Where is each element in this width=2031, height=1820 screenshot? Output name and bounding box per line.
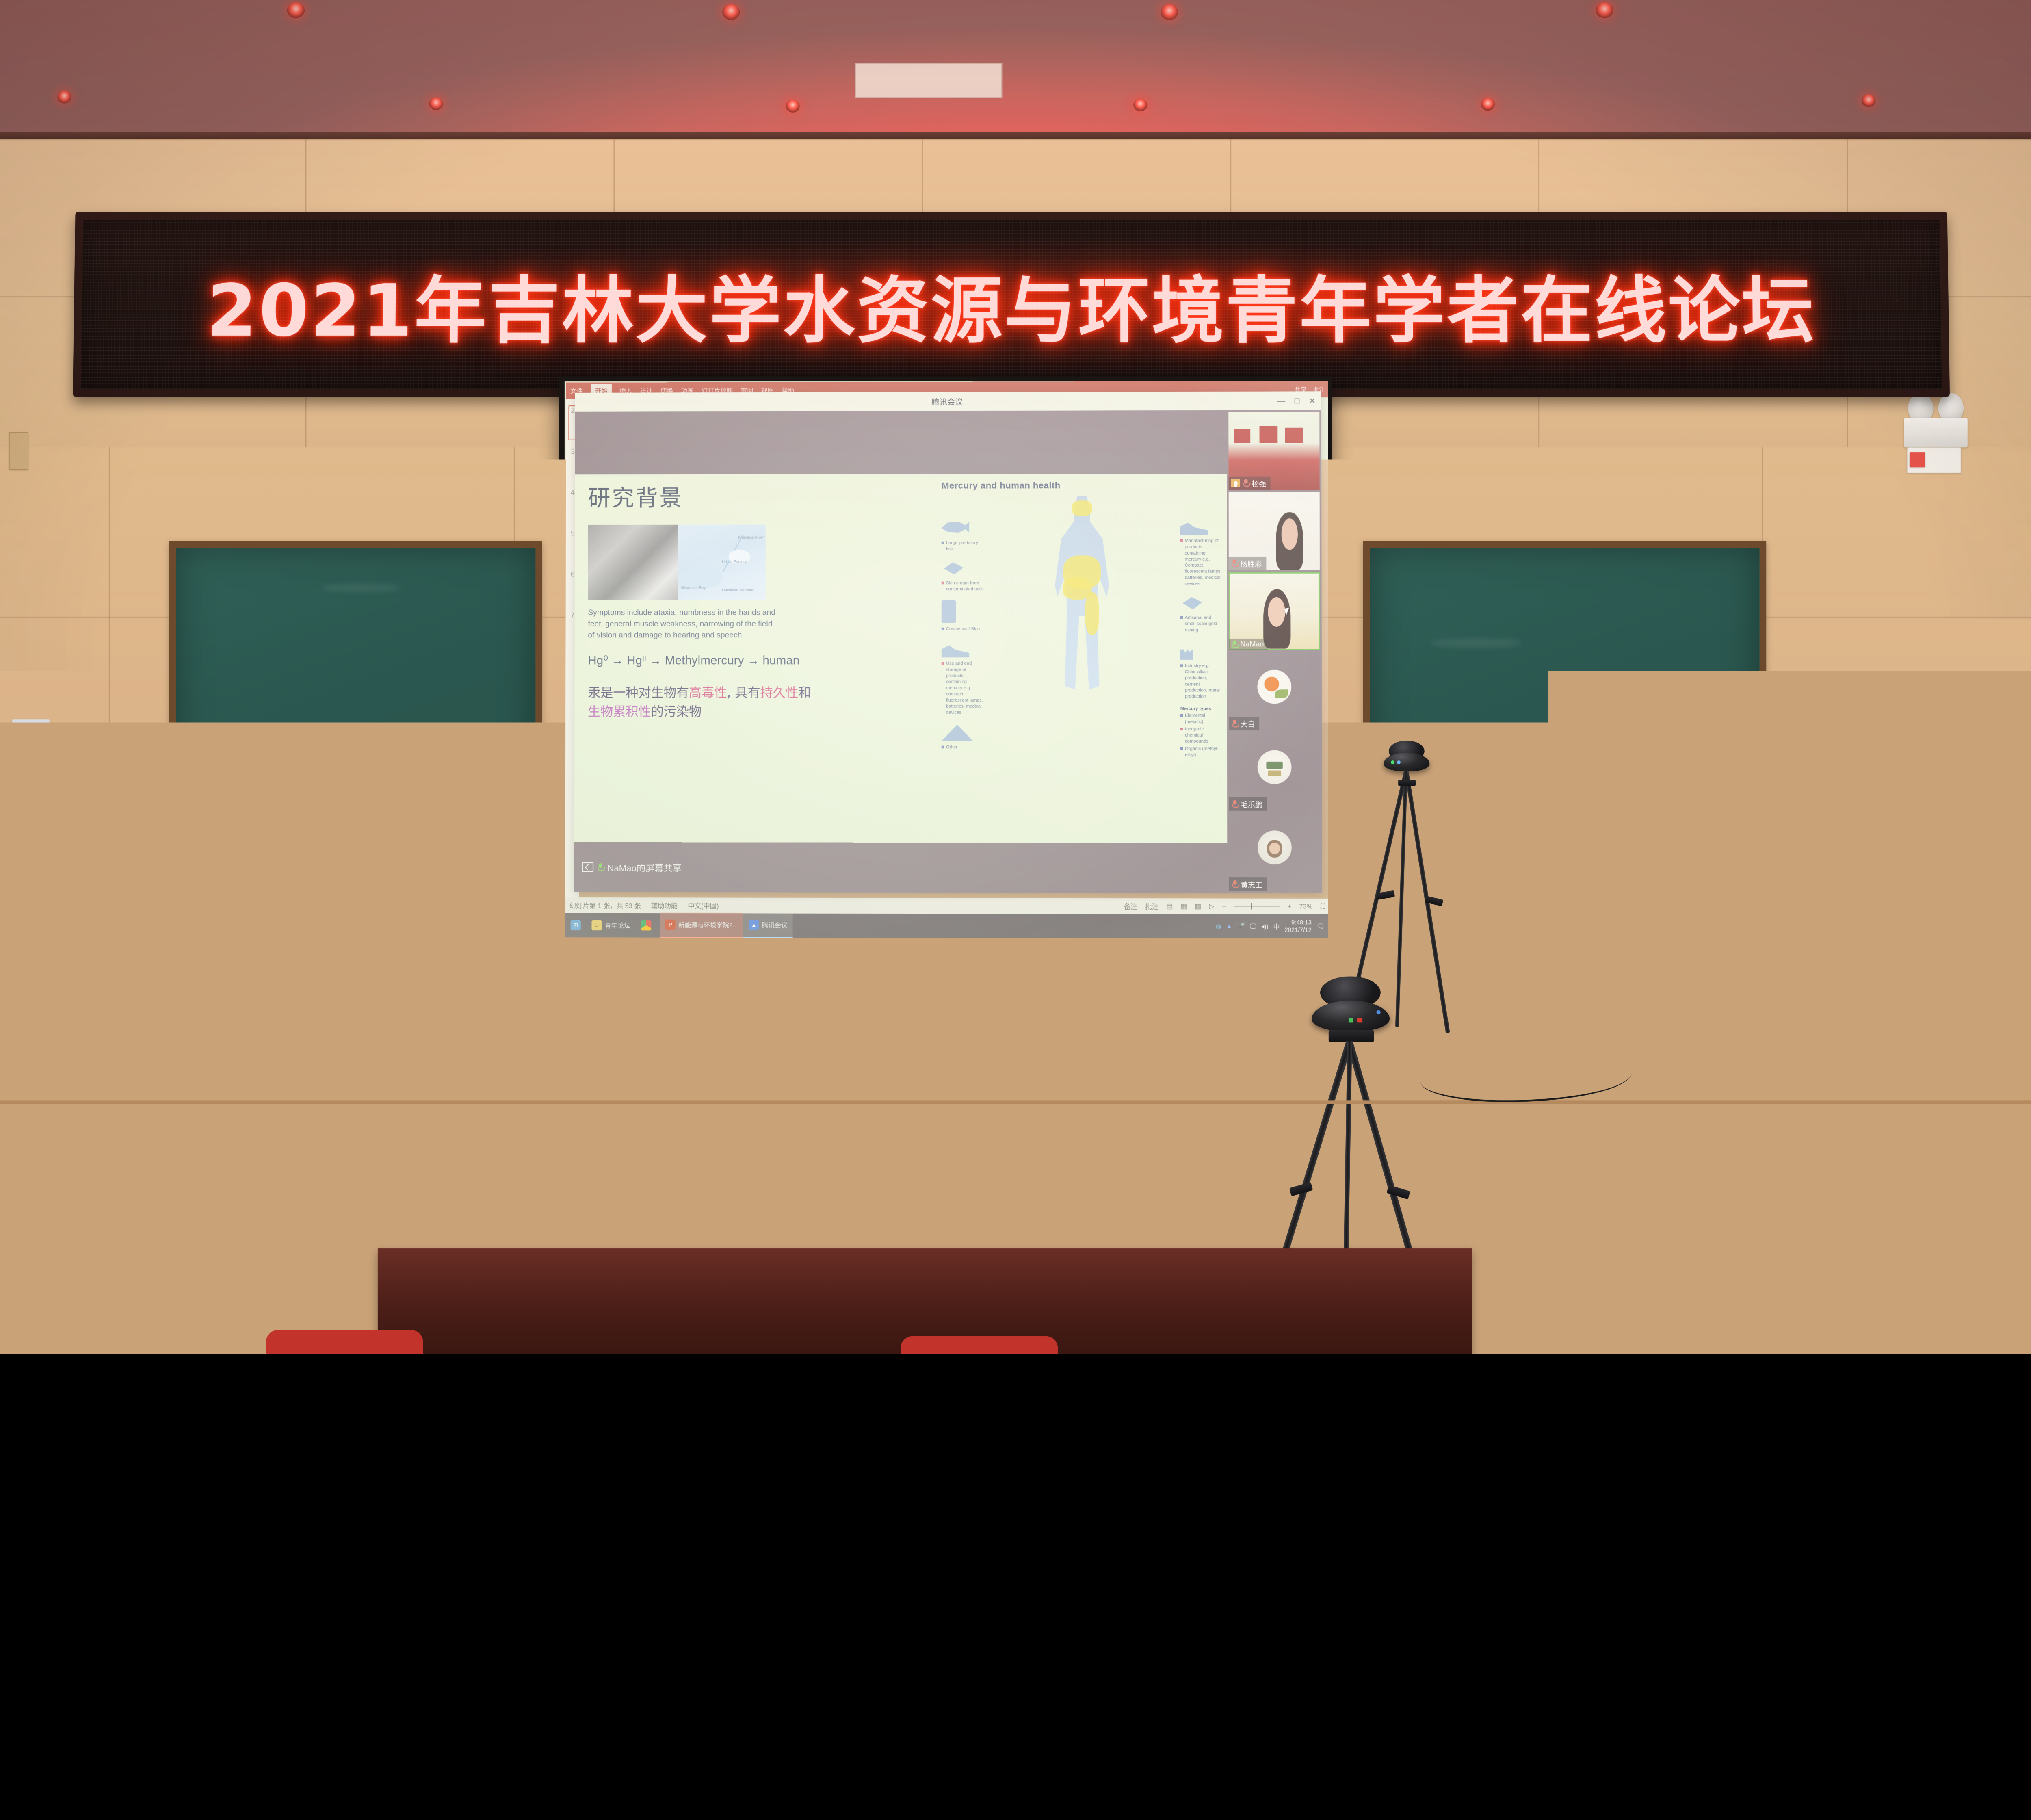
mic-on-icon	[597, 863, 604, 871]
mercury-type: Organic (methyl-ethyl)	[1185, 746, 1223, 758]
chrome-icon	[641, 920, 651, 930]
server-unit	[1943, 1049, 2031, 1149]
taskbar-item-label: 新能源与环境学院2...	[678, 920, 738, 929]
slide-number[interactable]: 7	[571, 611, 575, 620]
screen-share-icon	[582, 862, 593, 872]
exposure-item-label: Use and end storage of products containi…	[946, 661, 984, 716]
status-slide-count: 幻灯片第 1 张，共 53 张	[569, 900, 641, 910]
mountain-icon	[942, 724, 973, 741]
emergency-light	[1904, 393, 1968, 447]
host-badge-icon	[1231, 479, 1240, 487]
eraser[interactable]	[180, 892, 234, 904]
participant-tile-avatar[interactable]: 黄志工	[1229, 813, 1321, 891]
camera-status-led	[1391, 760, 1394, 764]
powerpoint-icon: P	[665, 920, 675, 930]
mic-muted-icon	[1231, 559, 1238, 567]
wall-notice-plate	[12, 719, 50, 769]
minamata-photo	[588, 525, 678, 600]
ceiling-spotlight	[287, 2, 305, 18]
mining-icon	[1180, 595, 1203, 612]
slide-chinese-text: 汞是一种对生物有高毒性, 具有持久性和 生物累积性的污染物	[588, 683, 940, 721]
ceiling-spotlight	[1862, 94, 1875, 107]
tripod-head	[1329, 1030, 1374, 1042]
slide-number[interactable]: 6	[571, 570, 575, 579]
powerpoint-status-bar: 幻灯片第 1 张，共 53 张 辅助功能 中文(中国) 备注 批注 ▤ ▦ ▥ …	[565, 897, 1328, 914]
monitor-icon[interactable]: 🖵	[1250, 923, 1256, 930]
ceiling-spotlight	[1596, 2, 1613, 18]
ceiling-spotlight	[57, 91, 71, 103]
camera-power-led	[1397, 760, 1401, 764]
wall-bracket	[9, 432, 28, 470]
slide-left-column: 研究背景 Kitanada River Urban Factory	[588, 479, 940, 721]
camera-360-rear	[1384, 753, 1429, 771]
view-normal-icon[interactable]: ▤	[1167, 902, 1173, 910]
tripod-clamp	[1398, 780, 1416, 786]
mic-muted-icon	[1232, 800, 1238, 808]
avatar	[1258, 830, 1292, 864]
zh-c: 和	[798, 685, 811, 700]
ceiling-vent-panel	[855, 63, 1003, 98]
participant-tile-presenter[interactable]: NaMao	[1229, 572, 1320, 650]
mercury-type: Inorganic chemical compounds	[1185, 726, 1223, 744]
zh-a: 汞是一种对生物有	[588, 685, 689, 700]
tencent-meeting-icon: ▲	[749, 920, 759, 930]
zoom-level: 73%	[1299, 903, 1312, 910]
front-table-left	[0, 1233, 169, 1354]
avatar	[1257, 670, 1291, 704]
taskbar-item-chrome[interactable]	[636, 913, 660, 938]
screen-share-footer: NaMao的屏幕共享	[574, 842, 1228, 893]
fish-icon	[942, 518, 969, 537]
view-sorter-icon[interactable]: ▦	[1181, 902, 1187, 910]
screen-share-label: NaMao的屏幕共享	[607, 860, 682, 874]
notifications-icon[interactable]: 🗨	[1316, 923, 1325, 930]
map-label: Urban Factory	[722, 559, 747, 564]
ceiling-spotlight	[786, 100, 800, 113]
start-icon: ⊞	[571, 920, 581, 930]
tripod-leg-lock	[1386, 1185, 1410, 1200]
product-icon	[942, 640, 969, 657]
participant-tile-video[interactable]: 杨胜彩	[1229, 492, 1320, 570]
mercury-types-heading: Mercury types	[1180, 706, 1223, 711]
mic-on-icon	[1231, 641, 1238, 648]
projection-screen: 文件 开始 插入 设计 切换 动画 幻灯片放映 审阅 视图 帮助 共享 批注	[565, 381, 1328, 938]
mic-icon[interactable]: 🎤	[1237, 923, 1245, 930]
source-item-label: Industry e.g. Chlor-alkali production, c…	[1185, 663, 1223, 700]
exposure-item-label: Skin cream from contaminated soils	[946, 580, 984, 592]
wall-indicator	[1910, 452, 1925, 467]
taskbar-start[interactable]: ⊞	[565, 913, 586, 938]
taskbar-clock[interactable]: 9:48:13 2021/7/12	[1284, 919, 1312, 934]
chalk-tray	[169, 924, 542, 937]
mic-muted-icon	[1232, 880, 1238, 888]
camera-status-led	[1349, 1018, 1353, 1022]
exposure-item-label: Large predatory fish	[946, 540, 984, 552]
minimize-button[interactable]: —	[1277, 396, 1285, 406]
led-banner-text: 2021年吉林大学水资源与环境青年学者在线论坛	[81, 252, 1942, 356]
fit-slide-icon[interactable]: ⛶	[1321, 903, 1325, 910]
ceiling	[0, 0, 2031, 142]
participant-tile-room[interactable]: 杨强	[1228, 412, 1319, 490]
taskbar-item-label: 青年论坛	[605, 921, 630, 929]
status-comments-button[interactable]: 批注	[1145, 901, 1158, 911]
meeting-top-letterbox	[575, 410, 1227, 474]
zh-highlight-toxic: 高毒性	[689, 685, 727, 700]
infographic-title: Mercury and human health	[942, 481, 1223, 491]
folder-icon: ▱	[591, 920, 602, 930]
product-icon	[1180, 517, 1208, 535]
maximize-button[interactable]: □	[1295, 396, 1300, 406]
participant-name: 杨胜彩	[1240, 558, 1262, 569]
source-item-label: Artisanal and small scale gold mining	[1185, 615, 1223, 633]
zh-highlight-persistent: 持久性	[760, 685, 799, 700]
chalkboard-left	[169, 541, 542, 929]
zoom-out-button[interactable]: −	[1222, 902, 1226, 910]
floor-cable	[1529, 1239, 1687, 1284]
source-item-label: Manufacturing of products containing mer…	[1185, 538, 1223, 587]
map-label: Kitanada River	[738, 535, 764, 539]
exposure-left-column: Large predatory fish Skin cream from con…	[942, 518, 984, 750]
status-language[interactable]: 中文(中国)	[688, 901, 719, 910]
participant-name: 杨强	[1252, 478, 1266, 488]
participant-name: 毛乐鹏	[1241, 799, 1262, 809]
slide-number[interactable]: 5	[571, 529, 575, 538]
participant-nameplate: 杨强	[1229, 477, 1271, 490]
shared-screen-stage: 研究背景 Kitanada River Urban Factory	[574, 410, 1228, 893]
tencent-icon[interactable]: ▲	[1226, 923, 1232, 930]
participant-nameplate: 毛乐鹏	[1229, 797, 1267, 811]
view-slideshow-icon[interactable]: ▷	[1209, 902, 1214, 910]
tencent-meeting-window: 腾讯会议 — □ ✕	[574, 391, 1322, 893]
emergency-light-body	[1904, 418, 1968, 447]
participant-rail[interactable]: 杨强 杨胜彩	[1227, 410, 1322, 893]
chair-left	[266, 1330, 423, 1354]
av-cabinet-left-pillar	[1529, 916, 1581, 988]
av-rack-interior	[1584, 967, 1741, 1025]
participant-nameplate: 黄志工	[1229, 877, 1267, 891]
network-icon[interactable]: ◍	[1216, 923, 1221, 930]
cabinet-lock[interactable]	[1550, 1031, 1557, 1037]
camera-power-led	[1376, 1010, 1380, 1014]
taskbar-item-folder[interactable]: ▱ 青年论坛	[586, 913, 636, 938]
status-accessibility[interactable]: 辅助功能	[651, 901, 678, 910]
meeting-title: 腾讯会议	[931, 396, 963, 407]
av-cabinet-right-shelf	[1904, 886, 2031, 913]
participant-tile-avatar[interactable]: 毛乐鹏	[1229, 732, 1320, 811]
camera-record-led	[1357, 1018, 1362, 1022]
chalk-box-red[interactable]	[212, 903, 269, 920]
avatar	[1258, 750, 1292, 784]
slide-caption: Symptoms include ataxia, numbness in the…	[588, 607, 780, 641]
chalk-box-green[interactable]	[176, 904, 209, 921]
zh-highlight-bioaccum: 生物累积性	[588, 704, 651, 719]
map-label: Minamata Bay	[681, 585, 706, 590]
minamata-map: Kitanada River Urban Factory Minamata Ba…	[678, 525, 766, 600]
participant-name: NaMao	[1240, 640, 1264, 649]
monitor-panel	[1550, 885, 1632, 896]
clock-date: 2021/7/12	[1284, 927, 1312, 934]
slide-right-column: Mercury and human health	[942, 481, 1223, 696]
zoom-in-button[interactable]: +	[1287, 902, 1291, 910]
taskbar-item-label: 腾讯会议	[762, 921, 787, 929]
organ-brain	[1072, 500, 1092, 516]
close-button[interactable]: ✕	[1309, 396, 1316, 406]
participant-nameplate: NaMao	[1229, 639, 1268, 650]
view-reading-icon[interactable]: ▥	[1195, 902, 1202, 910]
ceiling-spotlight	[1481, 98, 1495, 110]
zh-b: , 具有	[727, 685, 760, 700]
mercury-type: Elemental (metallic)	[1185, 713, 1223, 725]
participant-nameplate: 大白	[1229, 717, 1259, 731]
slide-title: 研究背景	[588, 479, 940, 512]
clock-time: 9:48:13	[1291, 919, 1312, 927]
map-label: Hachiken Harbour	[722, 588, 754, 592]
organ-kidney	[1085, 592, 1099, 635]
system-tray[interactable]: ◍ ▲ 🎤 🖵 ◂)) 中 9:48:13 2021/7/12 🗨	[1216, 919, 1328, 934]
diamond-icon	[942, 560, 965, 577]
participant-name: 黄志工	[1241, 879, 1262, 890]
meeting-title-bar: 腾讯会议 — □ ✕	[575, 391, 1321, 411]
front-table-right	[1723, 1227, 2031, 1354]
network-switch	[1659, 1146, 1735, 1174]
factory-icon	[1180, 641, 1206, 660]
mercury-body-infographic: Large predatory fish Skin cream from con…	[942, 496, 1223, 696]
exposure-right-column: Manufacturing of products containing mer…	[1180, 517, 1223, 758]
lecture-hall-scene: 2021年吉林大学水资源与环境青年学者在线论坛 文件 开始 插入 设计 切换 动…	[0, 0, 2031, 1354]
bottle-icon	[942, 600, 956, 623]
exposure-item-label: Other	[946, 744, 957, 750]
zoom-slider[interactable]	[1234, 906, 1280, 907]
exposure-item-label: Cosmetics / Skin	[946, 626, 980, 632]
participant-nameplate: 杨胜彩	[1229, 557, 1267, 570]
participant-tile-avatar[interactable]: 大白	[1229, 652, 1320, 730]
taskbar-item-tencent-meeting[interactable]: ▲ 腾讯会议	[743, 913, 793, 938]
slide-number[interactable]: 3	[571, 448, 575, 456]
chair-right	[1632, 1336, 1759, 1354]
taskbar-item-powerpoint[interactable]: P 新能源与环境学院2...	[660, 913, 743, 938]
participant-name: 大白	[1241, 718, 1255, 729]
ceiling-spotlight	[722, 4, 740, 20]
led-scrolling-banner: 2021年吉林大学水资源与环境青年学者在线论坛	[73, 212, 1950, 396]
av-cabinet-upper	[1581, 916, 1832, 964]
zh-d: 的污染物	[651, 704, 702, 719]
chair-center	[901, 1336, 1058, 1354]
slide-number[interactable]: 4	[571, 488, 575, 497]
shared-slide: 研究背景 Kitanada River Urban Factory	[574, 474, 1227, 843]
mic-muted-icon	[1243, 479, 1249, 487]
windows-taskbar[interactable]: ⊞ ▱ 青年论坛 P 新能源与环境学院2... ▲ 腾讯会议	[565, 913, 1328, 938]
ceiling-spotlight	[429, 97, 443, 110]
ceiling-spotlight	[1133, 99, 1147, 111]
cabinet-lock[interactable]	[1834, 1033, 1841, 1040]
ceiling-spotlight	[1161, 4, 1178, 20]
ime-indicator[interactable]: 中	[1273, 922, 1280, 931]
volume-icon[interactable]: ◂))	[1261, 923, 1268, 930]
slide-equation: Hg⁰ → Hgᴵᴵ → Methylmercury → human	[588, 654, 940, 667]
mic-muted-icon	[1231, 720, 1238, 728]
status-notes-button[interactable]: 备注	[1124, 901, 1137, 911]
